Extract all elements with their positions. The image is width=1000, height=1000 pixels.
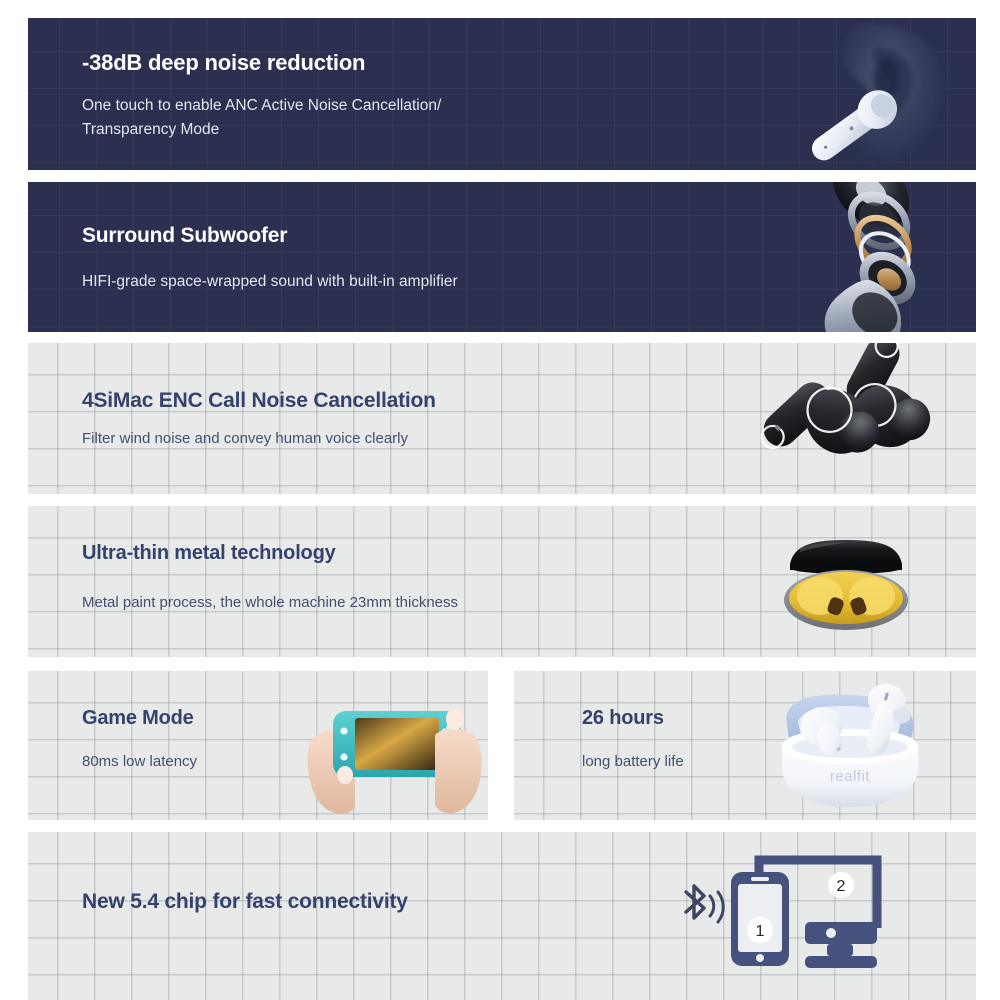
feature-panel-battery: realfit 26 hours long battery life (514, 671, 976, 820)
feature-panel-chip: 1 2 New 5.4 chip for fast connectivity (28, 832, 976, 1000)
chip-copy: New 5.4 chip for fast connectivity (82, 890, 408, 914)
badge-monitor-number: 2 (837, 878, 846, 895)
panel-subline: long battery life (582, 750, 684, 773)
metal-copy: Ultra-thin metal technology Metal paint … (82, 542, 458, 614)
panel-subline: 80ms low latency (82, 750, 197, 773)
exploded-speaker-driver-image (776, 182, 976, 332)
black-earbuds-pair-image (744, 343, 974, 494)
panel-subline: HIFI-grade space-wrapped sound with buil… (82, 270, 458, 294)
panel-headline: New 5.4 chip for fast connectivity (82, 890, 408, 914)
product-feature-page: -38dB deep noise reduction One touch to … (0, 0, 1000, 1000)
enc-copy: 4SiMac ENC Call Noise Cancellation Filte… (82, 389, 436, 450)
feature-panel-game: Game Mode 80ms low latency (28, 671, 488, 820)
subwoofer-copy: Surround Subwoofer HIFI-grade space-wrap… (82, 224, 458, 294)
ear-with-earbud-image (746, 18, 976, 170)
panel-headline: Ultra-thin metal technology (82, 542, 458, 565)
panel-headline: Surround Subwoofer (82, 224, 458, 248)
open-charging-case-image (776, 534, 916, 634)
panel-subline: Metal paint process, the whole machine 2… (82, 591, 458, 614)
brand-wordmark: realfit (830, 768, 871, 785)
feature-panel-metal: Ultra-thin metal technology Metal paint … (28, 506, 976, 657)
panel-headline: 26 hours (582, 707, 684, 730)
game-copy: Game Mode 80ms low latency (82, 707, 197, 773)
panel-headline: 4SiMac ENC Call Noise Cancellation (82, 389, 436, 413)
white-earbuds-case-image: realfit (756, 681, 946, 816)
panel-headline: Game Mode (82, 707, 197, 730)
handheld-game-console-image (303, 679, 488, 819)
panel-headline: -38dB deep noise reduction (82, 50, 512, 76)
panel-subline: Filter wind noise and convey human voice… (82, 427, 436, 450)
battery-copy: 26 hours long battery life (582, 707, 684, 773)
badge-phone-number: 1 (756, 923, 765, 940)
feature-panel-anc: -38dB deep noise reduction One touch to … (28, 18, 976, 170)
anc-copy: -38dB deep noise reduction One touch to … (82, 50, 512, 142)
panel-subline: One touch to enable ANC Active Noise Can… (82, 94, 512, 142)
bluetooth-multipoint-devices-image: 1 2 (701, 844, 916, 974)
feature-panel-subwoofer: Surround Subwoofer HIFI-grade space-wrap… (28, 182, 976, 332)
feature-panel-enc: 4SiMac ENC Call Noise Cancellation Filte… (28, 343, 976, 494)
